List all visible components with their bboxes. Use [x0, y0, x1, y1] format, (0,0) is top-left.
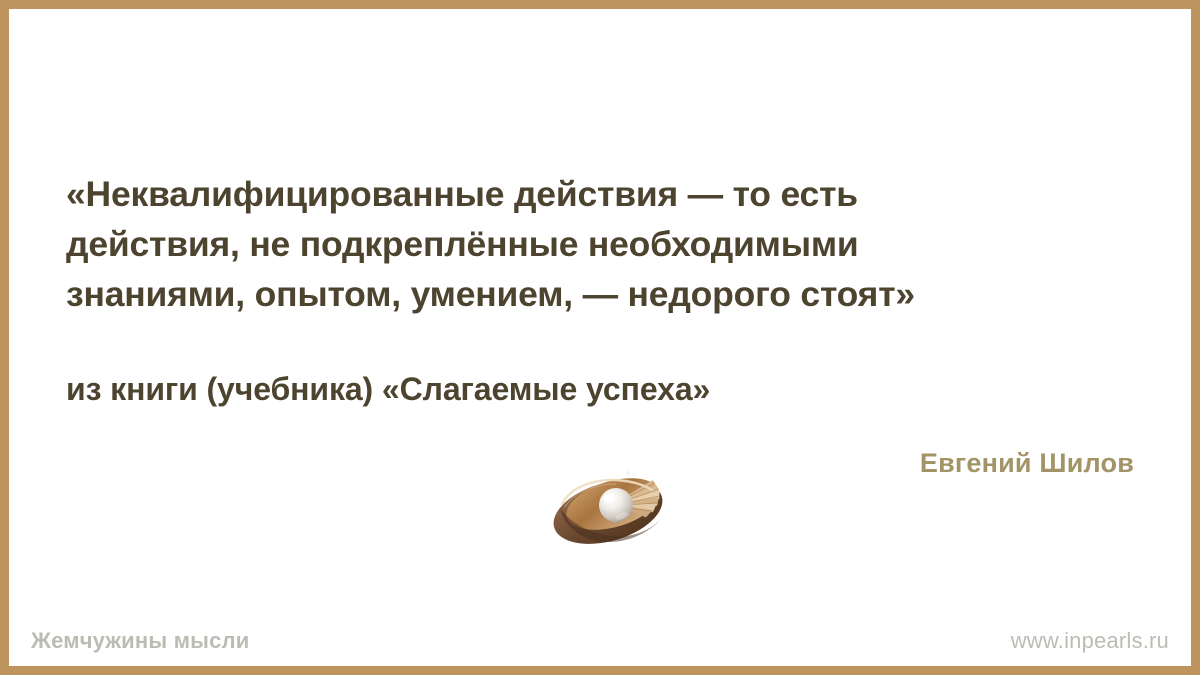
quote-card: «Неквалифицированные действия — то есть …: [0, 0, 1200, 675]
sparkle-dot: [626, 471, 630, 475]
site-url[interactable]: www.inpearls.ru: [1011, 627, 1169, 655]
source-text: из книги (учебника) «Слагаемые успеха»: [66, 319, 1142, 411]
quote-block: «Неквалифицированные действия — то есть …: [66, 169, 1142, 411]
oyster-shell-with-pearl-icon: [546, 464, 674, 546]
site-name: Жемчужины мысли: [31, 627, 250, 655]
quote-text: «Неквалифицированные действия — то есть …: [66, 169, 1142, 319]
